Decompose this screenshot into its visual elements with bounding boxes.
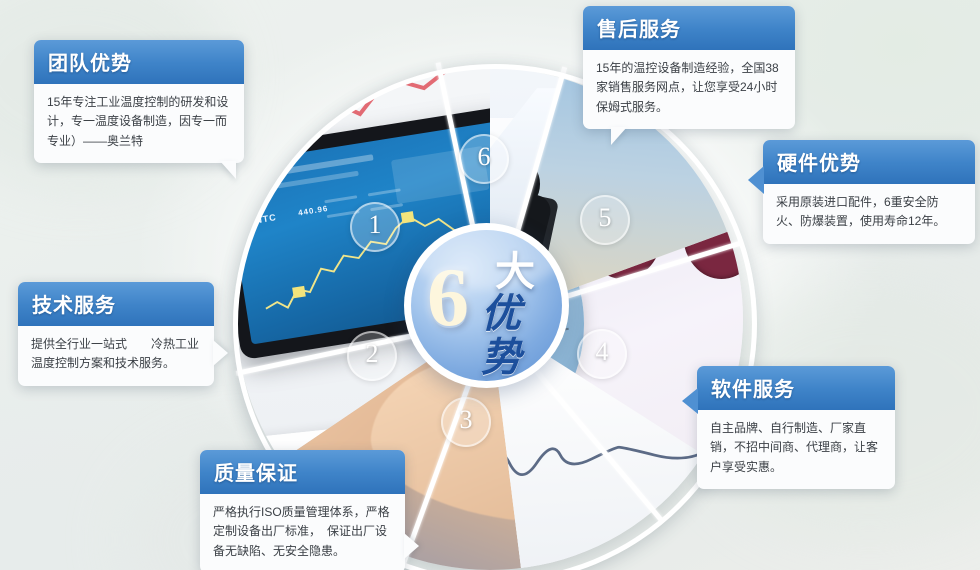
callout-header: 技术服务 — [18, 282, 214, 326]
callout-title: 团队优势 — [48, 53, 132, 75]
emblem-script-text: 优势 — [481, 292, 562, 380]
segment-badge-4[interactable]: 4 — [577, 329, 627, 379]
center-emblem-disc: 6 大 优势 — [411, 230, 562, 381]
callout-quality-assurance[interactable]: 质量保证 严格执行ISO质量管理体系，严格定制设备出厂标准， 保证出厂设备无缺陷… — [200, 450, 405, 570]
callout-body: 15年专注工业温度控制的研发和设计，专一温度设备制造，因专一而专业）——奥兰特 — [34, 84, 244, 163]
segment-badge-5[interactable]: 5 — [580, 195, 630, 245]
callout-tail — [404, 533, 419, 559]
callout-body: 严格执行ISO质量管理体系，严格定制设备出厂标准， 保证出厂设备无缺陷、无安全隐… — [200, 494, 405, 570]
callout-technical-service[interactable]: 技术服务 提供全行业一站式 冷热工业温度控制方案和技术服务。 — [18, 282, 214, 386]
center-emblem: 6 大 优势 — [404, 223, 569, 388]
callout-after-sales-service[interactable]: 售后服务 15年的温控设备制造经验，全国38家销售服务网点，让您享受24小时保姆… — [583, 6, 795, 129]
infographic-poster: INTC 440.96 — [0, 0, 980, 570]
callout-header: 质量保证 — [200, 450, 405, 494]
callout-tail — [213, 340, 228, 366]
callout-tail — [220, 161, 236, 179]
callout-body: 自主品牌、自行制造、厂家直销，不招中间商、代理商，让客户享受实惠。 — [697, 410, 895, 489]
callout-hardware-advantage[interactable]: 硬件优势 采用原装进口配件，6重安全防火、防爆装置，使用寿命12年。 — [763, 140, 975, 244]
callout-body: 15年的温控设备制造经验，全国38家销售服务网点，让您享受24小时保姆式服务。 — [583, 50, 795, 129]
emblem-number: 6 — [427, 256, 469, 340]
callout-team-advantage[interactable]: 团队优势 15年专注工业温度控制的研发和设计，专一温度设备制造，因专一而专业）—… — [34, 40, 244, 163]
callout-body: 提供全行业一站式 冷热工业温度控制方案和技术服务。 — [18, 326, 214, 386]
callout-tail — [611, 127, 627, 145]
segment-badge-6[interactable]: 6 — [459, 134, 509, 184]
callout-title: 软件服务 — [711, 379, 795, 401]
callout-title: 售后服务 — [597, 19, 681, 41]
callout-header: 软件服务 — [697, 366, 895, 410]
callout-tail — [748, 166, 764, 194]
callout-body: 采用原装进口配件，6重安全防火、防爆装置，使用寿命12年。 — [763, 184, 975, 244]
emblem-big-char: 大 — [495, 252, 535, 292]
segment-badge-1[interactable]: 1 — [350, 202, 400, 252]
callout-header: 售后服务 — [583, 6, 795, 50]
segment-badge-3[interactable]: 3 — [441, 397, 491, 447]
callout-header: 硬件优势 — [763, 140, 975, 184]
callout-header: 团队优势 — [34, 40, 244, 84]
segment-badge-2[interactable]: 2 — [347, 331, 397, 381]
callout-title: 技术服务 — [32, 295, 116, 317]
callout-title: 质量保证 — [214, 463, 298, 485]
callout-tail — [682, 388, 698, 414]
callout-title: 硬件优势 — [777, 153, 861, 175]
callout-software-service[interactable]: 软件服务 自主品牌、自行制造、厂家直销，不招中间商、代理商，让客户享受实惠。 — [697, 366, 895, 489]
